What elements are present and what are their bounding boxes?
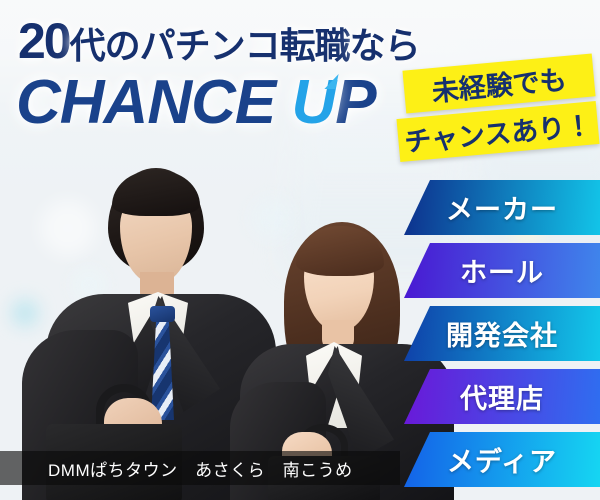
page-title: 20代のパチンコ転職なら	[18, 16, 420, 66]
brand-logo-chance: CHANCE	[16, 68, 275, 137]
man-necktie-knot	[150, 306, 175, 322]
headline-middle: 代のパチンコ転職	[70, 25, 350, 66]
bokeh-light-3	[12, 300, 38, 326]
brand-logo-p: P	[335, 68, 375, 137]
category-button-agency[interactable]: 代理店	[404, 369, 600, 424]
category-button-media-label: メディア	[447, 440, 557, 479]
headline-number: 20	[18, 13, 70, 69]
bokeh-light-1	[40, 200, 96, 256]
category-button-agency-label: 代理店	[460, 377, 544, 416]
headline-tail: なら	[350, 25, 420, 66]
category-button-list: メーカー ホール 開発会社 代理店 メディア	[404, 180, 600, 487]
category-button-hall-label: ホール	[460, 251, 544, 290]
category-button-developer[interactable]: 開発会社	[404, 306, 600, 361]
brand-logo-up: UP	[291, 68, 375, 137]
bokeh-light-6	[250, 196, 294, 240]
category-button-maker-label: メーカー	[446, 188, 558, 227]
brand-logo-u-arrow-icon: U	[291, 72, 335, 134]
promo-banner: 20代のパチンコ転職なら CHANCE UP 未経験でも チャンスあり！ メーカ…	[0, 0, 600, 500]
category-button-developer-label: 開発会社	[446, 314, 558, 353]
credits-caption-text: DMMぱちタウン あさくら 南こうめ	[48, 456, 353, 481]
category-button-media[interactable]: メディア	[404, 432, 600, 487]
credits-caption: DMMぱちタウン あさくら 南こうめ	[0, 451, 400, 485]
brand-logo: CHANCE UP	[16, 72, 376, 134]
category-button-maker[interactable]: メーカー	[404, 180, 600, 235]
category-button-hall[interactable]: ホール	[404, 243, 600, 298]
